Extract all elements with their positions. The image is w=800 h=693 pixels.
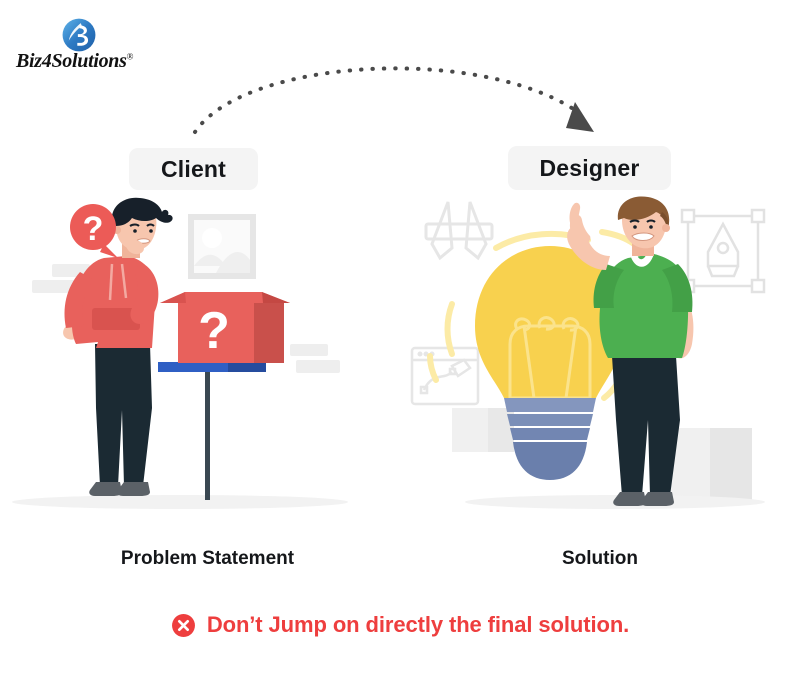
error-x-circle-icon xyxy=(171,613,196,638)
dotted-curved-arrow-icon xyxy=(150,40,650,150)
svg-text:?: ? xyxy=(83,210,104,248)
brand-name: Biz4Solutions xyxy=(16,50,127,72)
designer-illustration xyxy=(400,196,800,536)
confused-client-scene: ? xyxy=(0,196,400,536)
mystery-box-stand-icon xyxy=(158,362,266,500)
designer-idea-scene xyxy=(400,196,800,536)
mystery-box-icon: ? xyxy=(160,292,290,363)
client-illustration: ? xyxy=(0,196,400,536)
browser-bezier-pen-icon xyxy=(412,348,478,404)
framed-picture-placeholder-icon xyxy=(188,214,256,279)
mystery-box-question-mark: ? xyxy=(198,302,230,360)
caption-solution: Solution xyxy=(400,548,800,570)
label-pill-designer: Designer xyxy=(508,146,671,190)
footer-warning-text: Don’t Jump on directly the final solutio… xyxy=(207,612,629,638)
floor-shadow-icon xyxy=(12,495,348,509)
pen-nib-bounding-box-icon xyxy=(682,210,764,292)
registered-mark: ® xyxy=(127,51,134,61)
label-pill-client: Client xyxy=(129,148,258,190)
brand-wordmark: Biz4Solutions® xyxy=(16,50,166,73)
gray-decor-blocks-icon xyxy=(452,408,752,500)
brand-logo: Biz4Solutions® xyxy=(16,18,166,74)
biz4solutions-circle-b-logo-icon xyxy=(62,18,96,52)
infographic-canvas: Biz4Solutions® Client Designer xyxy=(0,0,800,693)
ruler-pencil-tools-icon xyxy=(426,202,492,258)
footer-warning-note: Don’t Jump on directly the final solutio… xyxy=(0,612,800,638)
caption-problem-statement: Problem Statement xyxy=(0,548,415,570)
question-speech-bubble-icon: ? xyxy=(70,204,118,258)
